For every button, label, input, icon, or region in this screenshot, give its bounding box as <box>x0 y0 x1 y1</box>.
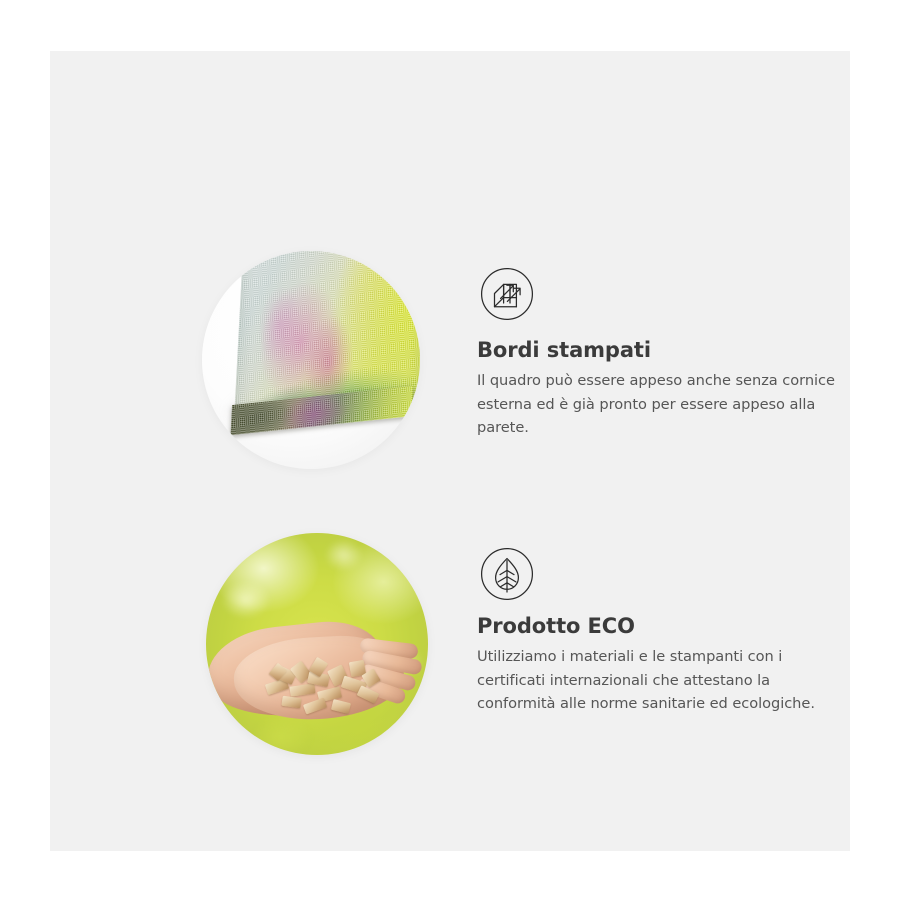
feature-text-eco-product: Prodotto ECO Utilizziamo i materiali e l… <box>477 613 852 716</box>
feature-title: Bordi stampati <box>477 337 852 363</box>
wood-chip <box>281 696 301 709</box>
hands-graphic <box>208 607 426 725</box>
wood-chip-pile <box>264 659 386 721</box>
canvas-block <box>226 255 420 461</box>
feature-block-printed-edges: Bordi stampati Il quadro può essere appe… <box>150 191 870 481</box>
content-panel: Bordi stampati Il quadro può essere appe… <box>50 51 850 851</box>
leaf-icon <box>480 547 534 601</box>
wood-chip <box>303 698 327 715</box>
wood-chip <box>331 699 351 714</box>
feature-description: Utilizziamo i materiali e le stampanti c… <box>477 645 852 716</box>
product-feature-infographic: Bordi stampati Il quadro può essere appe… <box>0 0 900 900</box>
feature-description: Il quadro può essere appeso anche senza … <box>477 369 852 440</box>
feature-title: Prodotto ECO <box>477 613 852 639</box>
wood-chips-image <box>206 533 428 755</box>
printed-edges-icon <box>480 267 534 321</box>
canvas-corner-image <box>202 251 420 469</box>
feature-block-eco-product: Prodotto ECO Utilizziamo i materiali e l… <box>150 471 870 761</box>
wood-chip <box>357 685 380 704</box>
wood-chip <box>289 683 315 696</box>
feature-text-printed-edges: Bordi stampati Il quadro può essere appe… <box>477 337 852 440</box>
